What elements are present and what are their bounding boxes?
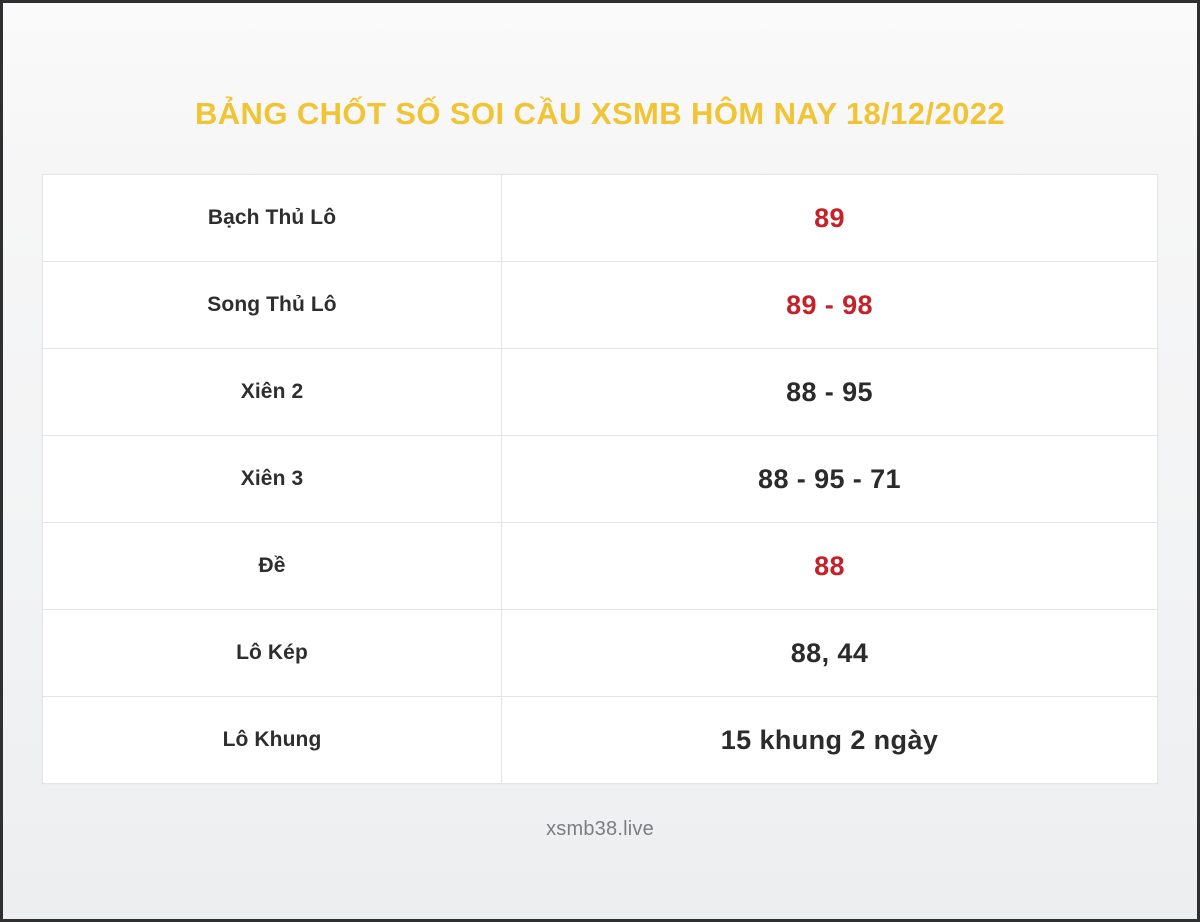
prediction-value-cell: 89 [502, 175, 1158, 262]
prediction-label-cell: Song Thủ Lô [43, 262, 502, 349]
prediction-table-body: Bạch Thủ Lô89Song Thủ Lô89 - 98Xiên 288 … [43, 175, 1158, 784]
table-row: Xiên 288 - 95 [43, 349, 1158, 436]
prediction-value-cell: 15 khung 2 ngày [502, 697, 1158, 784]
prediction-label-cell: Đề [43, 523, 502, 610]
lottery-prediction-page: BẢNG CHỐT SỐ SOI CẦU XSMB HÔM NAY 18/12/… [0, 0, 1200, 922]
prediction-value-cell: 88 - 95 - 71 [502, 436, 1158, 523]
prediction-label-cell: Lô Khung [43, 697, 502, 784]
table-row: Xiên 388 - 95 - 71 [43, 436, 1158, 523]
prediction-label-cell: Xiên 2 [43, 349, 502, 436]
table-row: Đề88 [43, 523, 1158, 610]
table-row: Song Thủ Lô89 - 98 [43, 262, 1158, 349]
prediction-value-cell: 89 - 98 [502, 262, 1158, 349]
table-row: Bạch Thủ Lô89 [43, 175, 1158, 262]
table-row: Lô Kép88, 44 [43, 610, 1158, 697]
site-footer-label: xsmb38.live [546, 818, 654, 841]
prediction-label-cell: Bạch Thủ Lô [43, 175, 502, 262]
prediction-value-cell: 88 - 95 [502, 349, 1158, 436]
prediction-table: Bạch Thủ Lô89Song Thủ Lô89 - 98Xiên 288 … [42, 174, 1158, 784]
prediction-value-cell: 88, 44 [502, 610, 1158, 697]
prediction-value-cell: 88 [502, 523, 1158, 610]
prediction-label-cell: Lô Kép [43, 610, 502, 697]
prediction-label-cell: Xiên 3 [43, 436, 502, 523]
page-title: BẢNG CHỐT SỐ SOI CẦU XSMB HÔM NAY 18/12/… [195, 98, 1005, 129]
table-row: Lô Khung15 khung 2 ngày [43, 697, 1158, 784]
